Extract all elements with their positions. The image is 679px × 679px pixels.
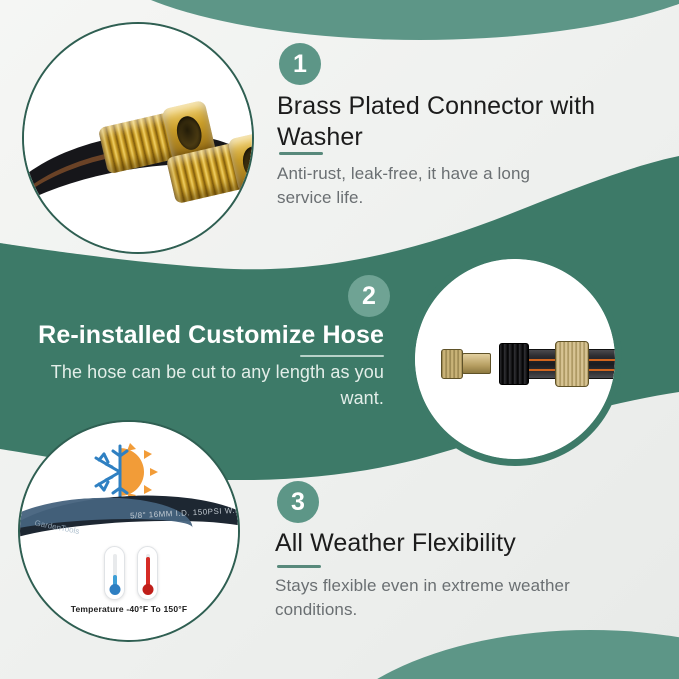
- feature-divider-3: [277, 565, 321, 568]
- all-weather-photo-inner: 5/8" 16MM I.D. 150PSI W.P. GardenTools T…: [20, 422, 238, 640]
- thermometer-hot-icon: [137, 546, 158, 600]
- thermometer-hot-bulb: [142, 584, 153, 595]
- infographic-canvas: 5/8" 16MM I.D. 150PSI W.P. GardenTools T…: [0, 0, 679, 679]
- temperature-caption: Temperature -40°F To 150°F: [20, 604, 238, 614]
- hose-coupling-nut: [555, 341, 589, 387]
- feature-badge-2: 2: [348, 275, 390, 317]
- thermometer-group: [98, 546, 164, 600]
- feature-divider-2: [300, 355, 384, 357]
- fitting-threads: [441, 349, 463, 379]
- feature-subtext-3: Stays flexible even in extreme weather c…: [275, 574, 575, 622]
- all-weather-photo: 5/8" 16MM I.D. 150PSI W.P. GardenTools T…: [18, 420, 240, 642]
- feature-subtext-2: The hose can be cut to any length as you…: [20, 360, 384, 411]
- thermometer-cold-bulb: [109, 584, 120, 595]
- feature-heading-1: Brass Plated Connector with Washer: [277, 91, 607, 152]
- hose-collar: [499, 343, 529, 385]
- feature-heading-3: All Weather Flexibility: [275, 528, 615, 559]
- feature-divider-1: [279, 152, 323, 155]
- feature-badge-1: 1: [279, 43, 321, 85]
- brass-connector-photo: [22, 22, 254, 254]
- fitting-barb: [462, 353, 491, 374]
- thermometer-cold-icon: [104, 546, 125, 600]
- customize-hose-diagram-inner: [415, 259, 615, 459]
- customize-hose-diagram: [408, 252, 622, 466]
- detached-brass-fitting: [441, 347, 491, 381]
- feature-heading-2: Re-installed Customize Hose: [20, 320, 384, 351]
- snowflake-sun-icon: [82, 440, 158, 504]
- feature-badge-3: 3: [277, 481, 319, 523]
- brass-connector-photo-inner: [24, 24, 252, 252]
- feature-subtext-1: Anti-rust, leak-free, it have a long ser…: [277, 162, 577, 210]
